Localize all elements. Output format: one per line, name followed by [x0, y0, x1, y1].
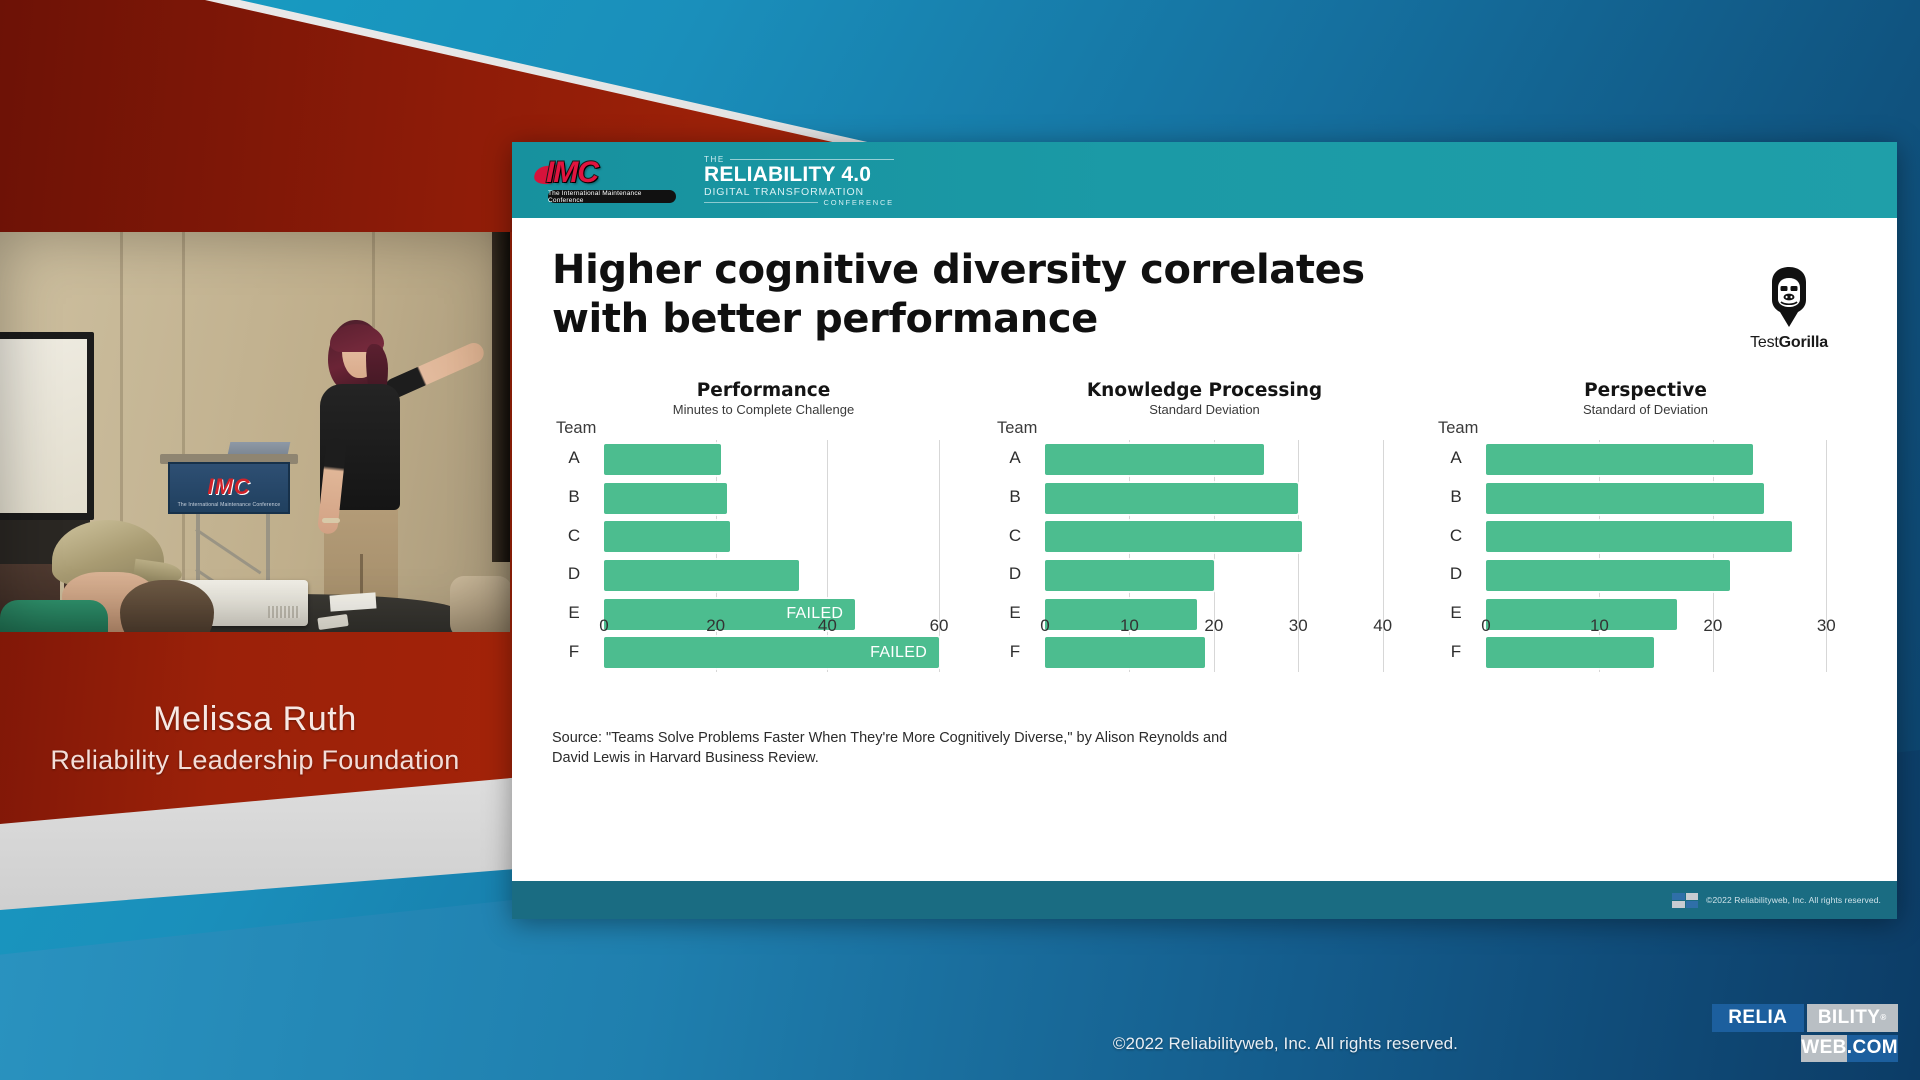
audience-shirt — [0, 600, 108, 632]
audience-head-second — [120, 580, 214, 632]
reliability-conference-logo: THE RELIABILITY 4.0 DIGITAL TRANSFORMATI… — [704, 153, 894, 207]
chart-axis-label: Team — [1434, 419, 1857, 438]
chart-category-label: E — [993, 603, 1037, 623]
reliability-conference-label: CONFERENCE — [704, 198, 894, 207]
logo-row-bottom: WEB.COM — [1712, 1035, 1898, 1063]
chart-x-axis: 0204060 — [604, 616, 967, 640]
chart-category-label: B — [552, 487, 596, 507]
lower-third-nameplate: Melissa Ruth Reliability Leadership Foun… — [0, 632, 510, 844]
chart-bar — [1045, 637, 1205, 668]
source-citation: Source: "Teams Solve Problems Faster Whe… — [552, 728, 1252, 769]
chart-bar — [1045, 560, 1214, 591]
registered-mark: ® — [1880, 1013, 1886, 1022]
testgorilla-logo: TestGorilla — [1737, 266, 1841, 352]
chart-bar — [1486, 483, 1764, 514]
speaker-video-feed: IMC The International Maintenance Confer… — [0, 232, 510, 632]
chart-x-tick: 10 — [1120, 616, 1139, 636]
chart-x-tick: 0 — [1481, 616, 1490, 636]
chart-bar — [1486, 521, 1792, 552]
reliability-subtitle: DIGITAL TRANSFORMATION — [704, 186, 894, 198]
chart-x-tick: 60 — [930, 616, 949, 636]
chart-category-label: A — [1434, 448, 1478, 468]
chart-bar — [604, 521, 730, 552]
chart-bar-label: FAILED — [870, 644, 939, 662]
slide-body: Higher cognitive diversity correlates wi… — [512, 218, 1897, 881]
slide-copyright: ©2022 Reliabilityweb, Inc. All rights re… — [1706, 895, 1881, 905]
papers — [329, 592, 376, 611]
chart-axis-label: Team — [993, 419, 1416, 438]
chart-bar — [1045, 521, 1302, 552]
speaker-name: Melissa Ruth — [153, 700, 357, 739]
reliabilityweb-mini-logo-icon — [1672, 893, 1698, 908]
chart-1: PerformanceMinutes to Complete Challenge… — [552, 380, 975, 672]
chart-subtitle: Standard Deviation — [993, 402, 1416, 417]
chart-bar — [604, 483, 727, 514]
bag — [450, 576, 510, 632]
gorilla-icon — [1766, 266, 1812, 328]
logo-bility: BILITY® — [1807, 1004, 1899, 1032]
podium: IMC The International Maintenance Confer… — [168, 462, 290, 514]
imc-logo-subtitle: The International Maintenance Conference — [548, 190, 676, 203]
chart-bar — [604, 444, 721, 475]
imc-logo-mark: IMC — [532, 156, 682, 190]
chart-2: Knowledge ProcessingStandard DeviationTe… — [993, 380, 1416, 672]
chart-category-label: C — [993, 526, 1037, 546]
logo-spacer — [1712, 1035, 1798, 1063]
slide-header-bar: IMC The International Maintenance Confer… — [512, 142, 1897, 218]
podium-imc-subtitle: The International Maintenance Conference — [170, 502, 288, 508]
podium-imc-logo: IMC — [170, 474, 288, 500]
projector-cable — [205, 620, 275, 632]
speaker-wristband — [322, 518, 340, 523]
reliability-title: RELIABILITY 4.0 — [704, 164, 894, 186]
brand-gorilla: Gorilla — [1779, 334, 1828, 351]
charts-container: PerformanceMinutes to Complete Challenge… — [552, 380, 1857, 672]
chart-x-tick: 30 — [1289, 616, 1308, 636]
chart-category-label: C — [552, 526, 596, 546]
imc-logo-text: IMC — [546, 156, 598, 190]
chart-x-axis: 0102030 — [1486, 616, 1849, 640]
chart-category-label: E — [1434, 603, 1478, 623]
chart-title: Knowledge Processing — [993, 380, 1416, 401]
projection-screen-edge — [492, 232, 510, 562]
brand-test: Test — [1750, 334, 1779, 351]
chart-category-label: E — [552, 603, 596, 623]
chart-x-tick: 20 — [1703, 616, 1722, 636]
chart-x-tick: 0 — [599, 616, 608, 636]
testgorilla-wordmark: TestGorilla — [1737, 334, 1841, 352]
chart-bar — [1486, 560, 1730, 591]
chart-x-tick: 20 — [706, 616, 725, 636]
logo-relia: RELIA — [1712, 1004, 1804, 1032]
chart-3: PerspectiveStandard of DeviationTeamABCD… — [1434, 380, 1857, 672]
chart-category-label: F — [1434, 642, 1478, 662]
chart-bar — [1486, 444, 1753, 475]
logo-com-text: .COM — [1847, 1035, 1898, 1063]
speaker-organization: Reliability Leadership Foundation — [50, 745, 459, 776]
chart-x-tick: 30 — [1817, 616, 1836, 636]
chart-axis-label: Team — [552, 419, 975, 438]
chart-bar — [604, 560, 799, 591]
chart-category-label: D — [1434, 564, 1478, 584]
chart-x-tick: 10 — [1590, 616, 1609, 636]
chart-category-label: C — [1434, 526, 1478, 546]
logo-row-top: RELIA BILITY® — [1712, 1004, 1898, 1032]
chart-subtitle: Standard of Deviation — [1434, 402, 1857, 417]
flipchart-board — [0, 332, 94, 520]
chart-category-label: D — [993, 564, 1037, 584]
reliabilityweb-logo: RELIA BILITY® WEB.COM — [1712, 1004, 1898, 1062]
conference-text: CONFERENCE — [823, 198, 894, 207]
slide-footer-bar: ©2022 Reliabilityweb, Inc. All rights re… — [512, 881, 1897, 919]
chart-x-tick: 0 — [1040, 616, 1049, 636]
slide-title: Higher cognitive diversity correlates wi… — [552, 246, 1432, 344]
presentation-slide: IMC The International Maintenance Confer… — [512, 142, 1897, 919]
chart-bar — [1045, 444, 1264, 475]
logo-bility-text: BILITY — [1818, 1007, 1881, 1029]
imc-logo: IMC The International Maintenance Confer… — [532, 154, 682, 206]
chart-x-tick: 20 — [1204, 616, 1223, 636]
chart-category-label: A — [993, 448, 1037, 468]
chart-title: Performance — [552, 380, 975, 401]
chart-subtitle: Minutes to Complete Challenge — [552, 402, 975, 417]
chart-bar — [1486, 637, 1654, 668]
wall-seam — [182, 232, 185, 632]
chart-category-label: D — [552, 564, 596, 584]
chart-category-label: A — [552, 448, 596, 468]
chart-category-label: F — [993, 642, 1037, 662]
screen-root: IMC The International Maintenance Confer… — [0, 0, 1920, 1080]
chart-category-label: B — [993, 487, 1037, 507]
chart-category-label: B — [1434, 487, 1478, 507]
chart-title: Perspective — [1434, 380, 1857, 401]
logo-webdotcom: WEB.COM — [1801, 1035, 1898, 1063]
projector-vent — [268, 606, 300, 618]
chart-x-tick: 40 — [1373, 616, 1392, 636]
chart-bar — [1045, 483, 1298, 514]
logo-web-text: WEB — [1801, 1035, 1847, 1063]
chart-x-tick: 40 — [818, 616, 837, 636]
chart-bar: FAILED — [604, 637, 939, 668]
chart-x-axis: 010203040 — [1045, 616, 1408, 640]
bottom-copyright: ©2022 Reliabilityweb, Inc. All rights re… — [1113, 1034, 1458, 1054]
chart-category-label: F — [552, 642, 596, 662]
